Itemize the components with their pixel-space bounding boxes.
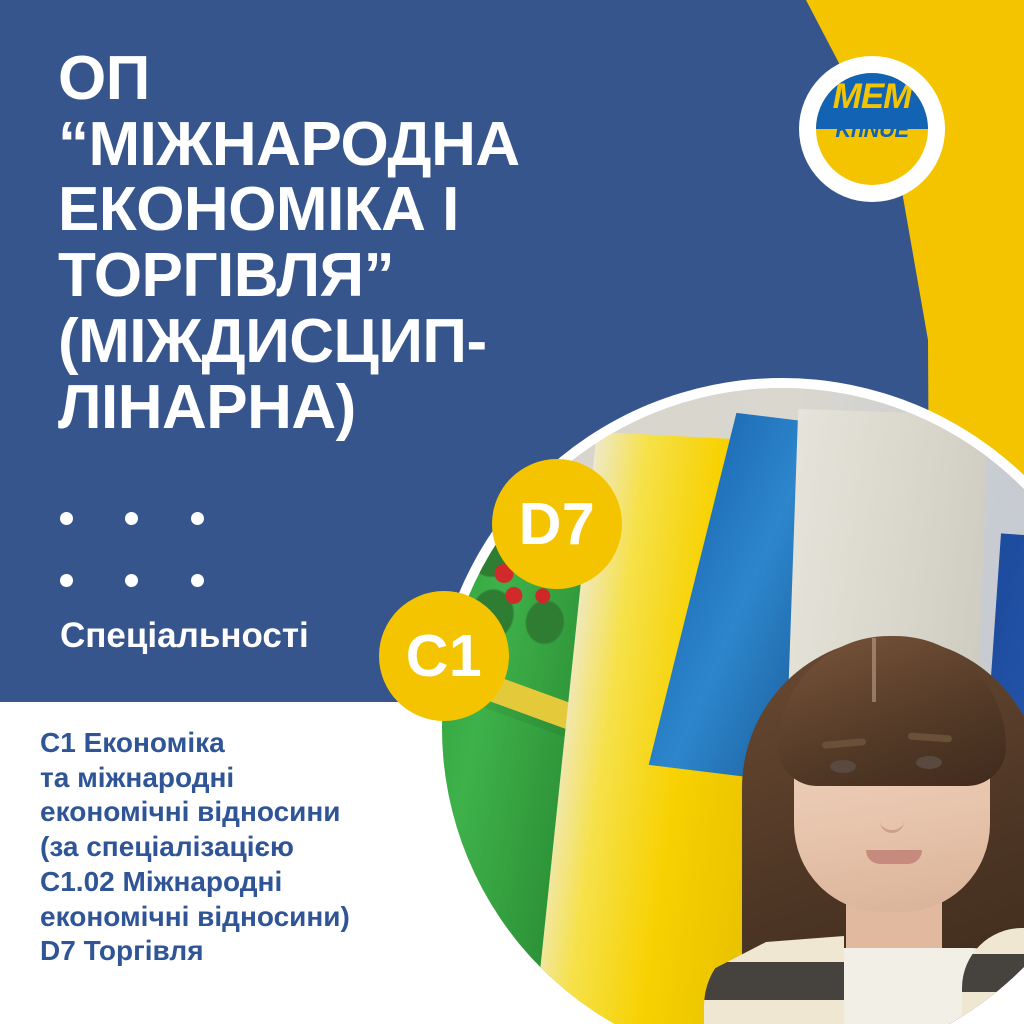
poster-canvas: ОП “МІЖНАРОДНА ЕКОНОМІКА І ТОРГІВЛЯ” (МІ… [0, 0, 1024, 1024]
person-eye-left [830, 760, 856, 773]
dot [60, 512, 73, 525]
logo-disc: MEM KhNUE [816, 73, 928, 185]
dot [60, 574, 73, 587]
logo-mem-text: MEM [816, 79, 928, 114]
badge-c1[interactable]: C1 [379, 591, 509, 721]
dot [125, 512, 138, 525]
dot [191, 574, 204, 587]
person-nose [880, 798, 904, 833]
dot [191, 512, 204, 525]
mem-khnue-logo[interactable]: MEM KhNUE [799, 56, 945, 202]
badge-d7[interactable]: D7 [492, 459, 622, 589]
page-title: ОП “МІЖНАРОДНА ЕКОНОМІКА І ТОРГІВЛЯ” (МІ… [58, 46, 698, 440]
person-hair-part [872, 638, 876, 702]
person-eye-right [916, 756, 942, 769]
logo-khnue-text: KhNUE [816, 119, 928, 141]
person-mouth [866, 850, 922, 864]
subtitle-specialties-heading: Спеціальності [60, 617, 309, 656]
dot [125, 574, 138, 587]
specialties-description: C1 Економіка та міжнародні економічні ві… [40, 726, 480, 969]
